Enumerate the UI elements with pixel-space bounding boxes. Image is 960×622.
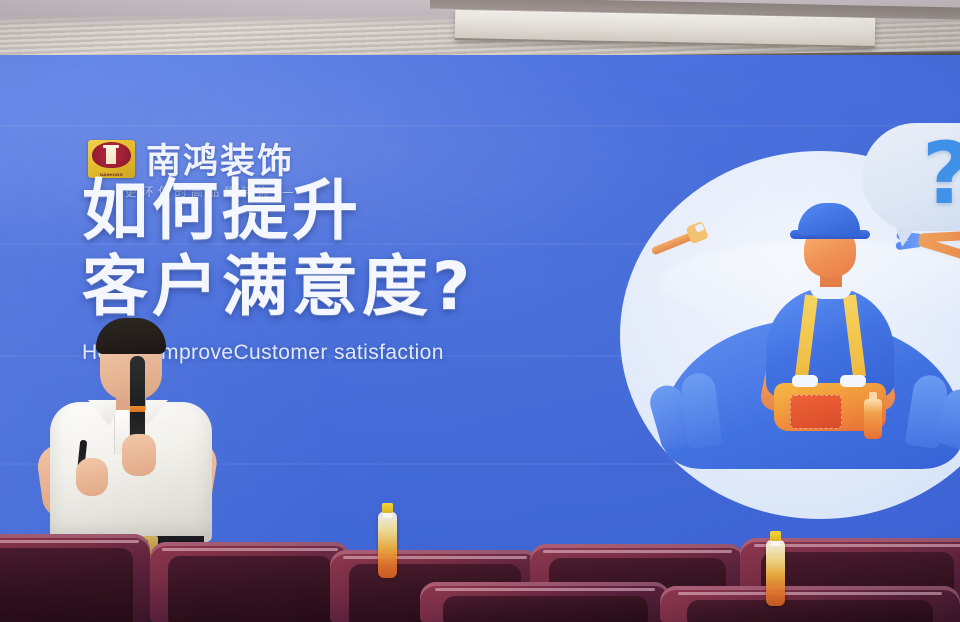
seat-backrest xyxy=(168,556,332,622)
ceiling xyxy=(0,0,960,62)
worker-cuff xyxy=(840,375,866,387)
auditorium-seat xyxy=(660,586,960,622)
worker-figure xyxy=(748,203,908,433)
auditorium-seat xyxy=(420,582,670,622)
worker-cuff xyxy=(792,375,818,387)
title-line-1: 如何提升 xyxy=(82,173,474,249)
auditorium-seat xyxy=(0,534,150,622)
worker-bottle xyxy=(864,399,882,439)
speaker-hair xyxy=(96,318,166,354)
speaker-hand-with-pen xyxy=(76,458,108,496)
worker-shirt xyxy=(766,287,894,397)
auditorium-seating xyxy=(0,520,960,622)
bottle-cap xyxy=(382,503,393,513)
worker-illustration: ? xyxy=(600,123,960,553)
bottle-cap xyxy=(770,531,781,541)
seat-backrest xyxy=(687,600,933,622)
seat-backrest xyxy=(0,548,133,622)
speaker-hand-on-mic xyxy=(122,434,156,476)
water-bottle xyxy=(766,540,785,606)
title-line-2: 客户满意度? xyxy=(82,249,474,325)
worker-collar xyxy=(810,287,852,299)
question-mark-icon: ? xyxy=(922,131,960,217)
auditorium-seat xyxy=(150,542,350,622)
presentation-photo: ? NANHONG 南鸿装饰 — 更环保的高品质装饰 — 如何提升 客户满意度?… xyxy=(0,0,960,622)
seat-backrest xyxy=(443,596,648,622)
logo-pillar xyxy=(106,147,116,164)
worker-helmet xyxy=(798,203,860,235)
water-bottle xyxy=(378,512,397,578)
microphone-band xyxy=(130,406,145,412)
worker-tool-pouch xyxy=(790,395,842,429)
